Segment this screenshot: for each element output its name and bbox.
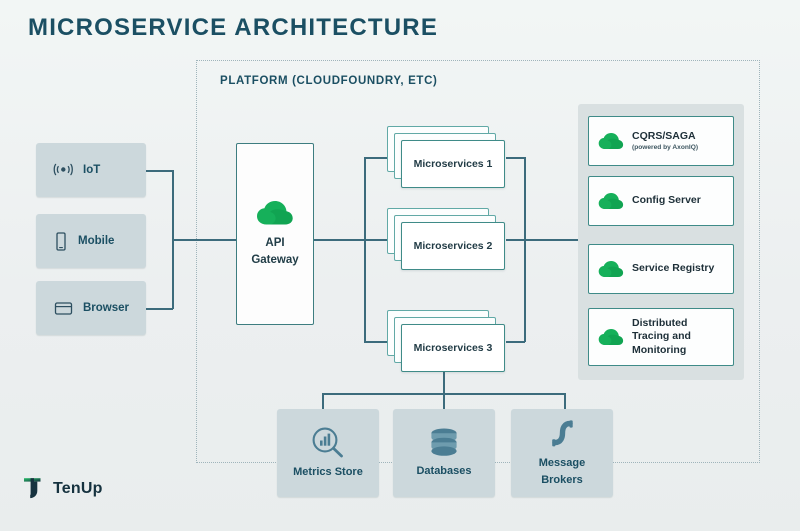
service-card-distributed-tracing[interactable]: Distributed Tracing and Monitoring [588,308,734,366]
client-label-iot: IoT [83,164,100,176]
connector-msbus-to-ms1 [364,157,388,159]
connector-bus-to-brokers [564,393,566,410]
green-cloud-icon [256,200,294,227]
service-card-config-server[interactable]: Config Server [588,176,734,226]
infra-label-message-brokers-line2: Brokers [541,474,583,488]
connector-bus-to-databases [443,393,445,410]
green-cloud-icon [598,132,624,151]
green-cloud-icon [598,192,624,211]
microservice-stack-3[interactable]: Microservices 3 [387,310,509,373]
api-gateway-label-line1: API [265,236,284,251]
green-cloud-icon [598,328,624,347]
connector-gateway-to-msbus [313,239,365,241]
platform-label: PLATFORM (CLOUDFOUNDRY, ETC) [220,75,438,87]
client-tile-iot[interactable]: IoT [36,143,146,197]
service-title-cqrs-saga: CQRS/SAGA [632,130,698,143]
stack-card-front[interactable]: Microservices 2 [401,222,505,270]
connector-msbus-to-ms2 [364,239,388,241]
connector-msbus-to-ms3 [364,341,388,343]
microservice-stack-1[interactable]: Microservices 1 [387,126,509,189]
api-gateway-label-line2: Gateway [251,253,298,268]
platform-services-panel: CQRS/SAGA (powered by AxonIQ) Config Ser… [578,104,744,380]
connector-bus-to-metrics [322,393,324,410]
connector-bus-to-gateway [172,239,237,241]
service-card-service-registry[interactable]: Service Registry [588,244,734,294]
connector-iot-to-bus [145,170,173,172]
brand-name: TenUp [53,480,103,498]
service-subtitle-cqrs-saga: (powered by AxonIQ) [632,144,698,152]
infra-tile-message-brokers[interactable]: Message Brokers [511,409,613,497]
metrics-magnifier-icon [310,426,346,460]
microservice-label-1: Microservices 1 [414,158,493,170]
stack-card-front[interactable]: Microservices 1 [401,140,505,188]
infra-label-databases: Databases [416,465,471,479]
connector-microservice-bus-left [364,157,366,342]
green-cloud-icon [598,260,624,279]
tenup-monogram-icon [22,476,46,502]
client-label-mobile: Mobile [78,235,114,247]
infra-tile-metrics-store[interactable]: Metrics Store [277,409,379,497]
connector-rightbus-to-services [524,239,579,241]
client-tile-mobile[interactable]: Mobile [36,214,146,268]
infra-tile-databases[interactable]: Databases [393,409,495,497]
infra-label-message-brokers-line1: Message [539,457,585,471]
service-title-config-server: Config Server [632,194,701,207]
stack-card-front[interactable]: Microservices 3 [401,324,505,372]
client-label-browser: Browser [83,302,129,314]
infra-label-metrics-store: Metrics Store [293,466,363,480]
microservice-stack-2[interactable]: Microservices 2 [387,208,509,271]
message-broker-pipe-icon [545,419,579,451]
service-title-tracing-line2: Tracing and [632,330,691,343]
service-title-service-registry: Service Registry [632,262,714,275]
wifi-signal-icon [54,162,73,178]
database-icon [426,427,462,459]
microservice-label-2: Microservices 2 [414,240,493,252]
service-title-tracing-line1: Distributed [632,317,691,330]
connector-browser-to-bus [145,308,173,310]
mobile-phone-icon [54,232,68,251]
diagram-canvas: MICROSERVICE ARCHITECTURE PLATFORM (CLOU… [0,0,800,531]
connector-right-bus [524,157,526,342]
service-title-tracing-line3: Monitoring [632,344,691,357]
api-gateway-node[interactable]: API Gateway [236,143,314,325]
client-tile-browser[interactable]: Browser [36,281,146,335]
brand-logo[interactable]: TenUp [22,476,103,502]
microservice-label-3: Microservices 3 [414,342,493,354]
page-title: MICROSERVICE ARCHITECTURE [28,14,438,42]
browser-window-icon [54,300,73,316]
service-card-cqrs-saga[interactable]: CQRS/SAGA (powered by AxonIQ) [588,116,734,166]
